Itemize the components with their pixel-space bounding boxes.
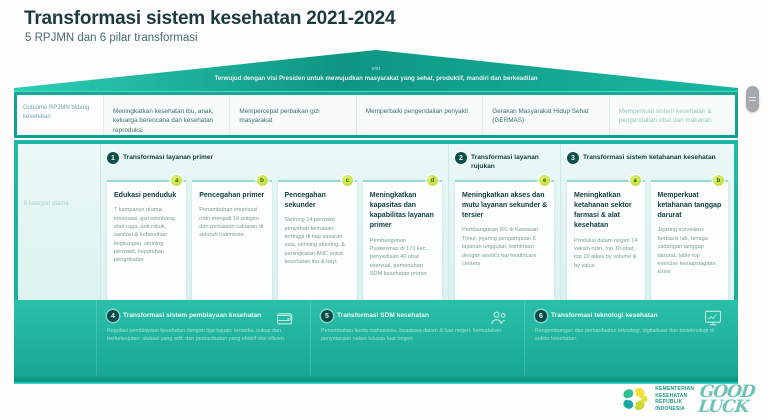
card-1a-title: Edukasi penduduk <box>114 191 180 201</box>
outcome-item-2: Mempercepat perbaikan gizi masyarakat <box>229 95 355 135</box>
pillar-6-number: 6 <box>535 310 547 322</box>
bottom-pillar-strip: 4 Transformasi sistem pembiayaan kesehat… <box>14 300 738 380</box>
monitor-icon <box>702 308 724 328</box>
page-title: Transformasi sistem kesehatan 2021-2024 <box>24 8 395 30</box>
ministry-logo-text: KEMENTERIAN KESEHATAN REPUBLIK INDONESIA <box>655 386 694 412</box>
card-1b-badge: b <box>257 175 268 186</box>
pillar-5-number: 5 <box>321 310 333 322</box>
card-1c-text: Skrining 14 penyakit penyebab kematian t… <box>285 216 351 266</box>
card-3a-text: Produksi dalam negeri 14 vaksin rutin, t… <box>574 237 639 271</box>
pillar-4-text: Regulasi pembiayaan kesehatan dengan tig… <box>107 327 300 344</box>
card-1b-text: Penambahan imunisasi rutin menjadi 14 an… <box>199 206 265 240</box>
card-1d-title: Meningkatkan kapasitas dan kapabilitas l… <box>370 191 436 232</box>
card-3b-text: Jejaring surveilans berbasis lab, tenaga… <box>658 226 723 276</box>
pillar-6[interactable]: 6 Transformasi teknologi kesehatan Penge… <box>524 300 738 380</box>
card-2a-title: Meningkatkan akses dan mutu layanan seku… <box>462 191 548 221</box>
card-3b-title: Memperkuat ketahanan tanggap darurat <box>658 191 723 221</box>
bottom-strip-spacer <box>14 300 96 380</box>
house-roof: visi Terwujud dengan visi Presiden untuk… <box>14 48 738 94</box>
pillar-6-title: Transformasi teknologi kesehatan <box>551 310 658 321</box>
outcome-side-label: Outcome RPJMN bidang kesehatan <box>17 95 103 135</box>
pillar-4-title: Transformasi sistem pembiayaan kesehatan <box>123 310 261 321</box>
outcome-band: Outcome RPJMN bidang kesehatan Meningkat… <box>14 92 738 138</box>
roof-vision-text: Terwujud dengan visi Presiden untuk mewu… <box>104 75 648 82</box>
card-1c-badge: c <box>342 175 353 186</box>
card-3b-badge: b <box>713 175 724 186</box>
pillar-6-text: Pengembangan dan pemanfaatan teknologi, … <box>535 327 728 344</box>
ministry-line-4: INDONESIA <box>655 406 694 413</box>
pillar-3-number: 3 <box>567 152 579 164</box>
house-base <box>14 376 738 384</box>
card-2a-badge: e <box>539 175 550 186</box>
card-2a-text: Pembangunan RS di Kawasan Timur, jejarin… <box>462 226 548 268</box>
outcome-item-1: Meningkatkan kesehatan ibu, anak, keluar… <box>103 95 229 135</box>
roof-visi-label: visi <box>14 66 738 72</box>
handle-line-2 <box>749 100 756 101</box>
pillar-5[interactable]: 5 Transformasi SDM kesehatan Penambahan … <box>310 300 524 380</box>
scroll-handle[interactable] <box>746 86 759 112</box>
pillar-1-title: Transformasi layanan primer <box>123 152 213 163</box>
handle-line-1 <box>749 97 756 98</box>
pillar-2-number: 2 <box>455 152 467 164</box>
card-1d-text: Pembangunan Puskesmas di 171 kec., penye… <box>370 237 436 279</box>
good-luck-line-2: LUCK <box>698 399 754 414</box>
pillar-2-title: Transformasi layanan rujukan <box>471 152 554 172</box>
card-1c-title: Pencegahan sekunder <box>285 191 351 211</box>
outcome-item-3: Memperbaiki pengendalian penyakit <box>356 95 482 135</box>
people-icon <box>488 308 510 328</box>
card-1a-badge: a <box>171 175 182 186</box>
ministry-line-1: KEMENTERIAN <box>655 386 694 393</box>
infographic-canvas: Transformasi sistem kesehatan 2021-2024 … <box>0 0 768 420</box>
card-1b-title: Pencegahan primer <box>199 191 265 201</box>
page-subtitle: 5 RPJMN dan 6 pilar transformasi <box>25 32 198 44</box>
good-luck-watermark: GOOD LUCK <box>698 385 756 414</box>
footer-logo-area: KEMENTERIAN KESEHATAN REPUBLIK INDONESIA… <box>620 385 754 414</box>
pillar-4-number: 4 <box>107 310 119 322</box>
pillar-3-title: Transformasi sistem ketahanan kesehatan <box>583 152 716 163</box>
card-3a-badge: a <box>630 175 641 186</box>
card-3a-title: Meningkatkan ketahanan sektor farmasi & … <box>574 191 639 232</box>
outcome-item-4: Gerakan Masyarakat Hidup Sehat (GERMAS) <box>482 95 608 135</box>
card-1a-text: 7 kampanye utama: imunisasi, gizi seimba… <box>114 206 180 265</box>
pillar-5-text: Penambahan kuota mahasiswa, beasiswa dal… <box>321 327 514 344</box>
pillar-4[interactable]: 4 Transformasi sistem pembiayaan kesehat… <box>96 300 310 380</box>
card-1d-badge: d <box>427 175 438 186</box>
pillar-5-title: Transformasi SDM kesehatan <box>337 310 429 321</box>
outcome-item-5: Memperkuat sistem kesehatan & pengendali… <box>609 95 735 135</box>
wallet-icon <box>274 308 296 328</box>
pillar-1-number: 1 <box>107 152 119 164</box>
ministry-logo-icon <box>620 385 650 413</box>
